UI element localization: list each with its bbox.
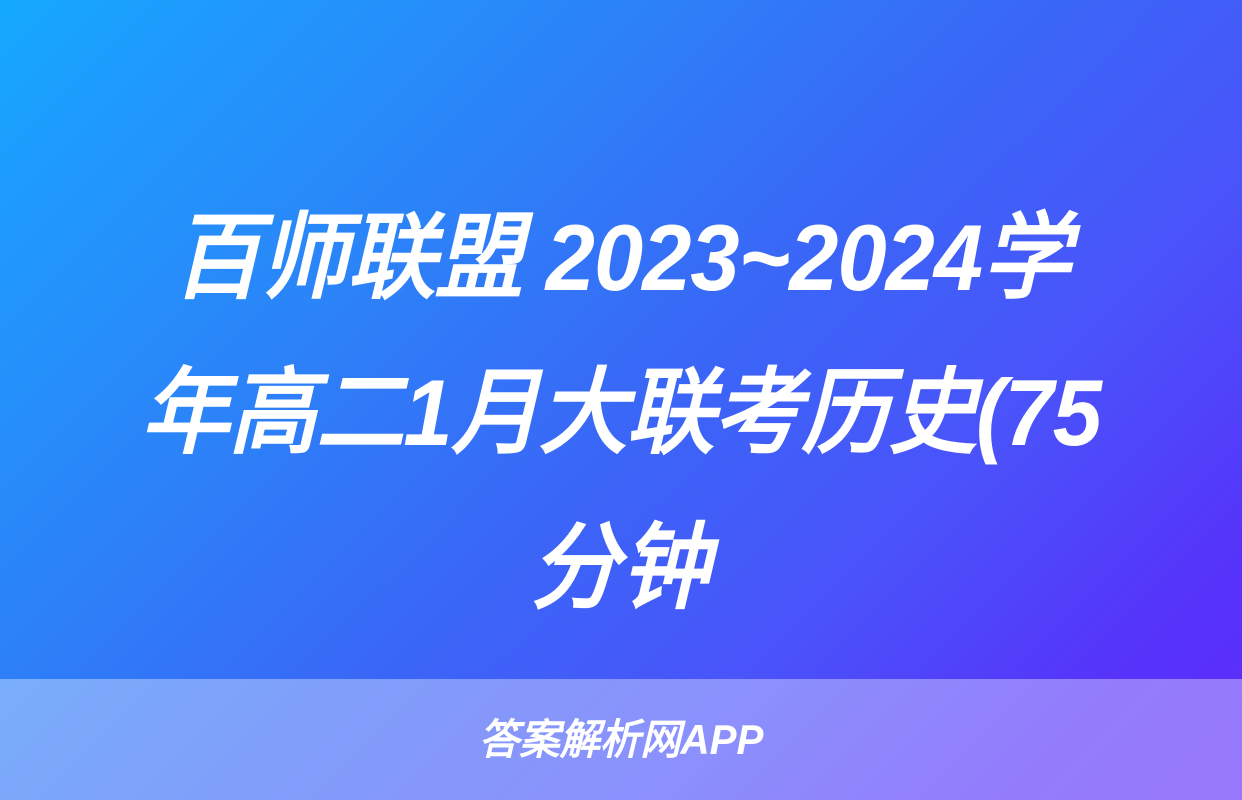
title-line-1: 百师联盟 2023~2024学 bbox=[105, 180, 1137, 335]
poster-canvas: 百师联盟 2023~2024学 年高二1月大联考历史(75 分钟 答案解析网AP… bbox=[0, 0, 1242, 800]
footer-watermark-band: 答案解析网APP bbox=[0, 679, 1242, 800]
title-line-2: 年高二1月大联考历史(75 bbox=[105, 335, 1137, 490]
page-title: 百师联盟 2023~2024学 年高二1月大联考历史(75 分钟 bbox=[0, 180, 1242, 645]
watermark-label: 答案解析网APP bbox=[479, 719, 764, 761]
title-line-3: 分钟 bbox=[105, 490, 1137, 645]
